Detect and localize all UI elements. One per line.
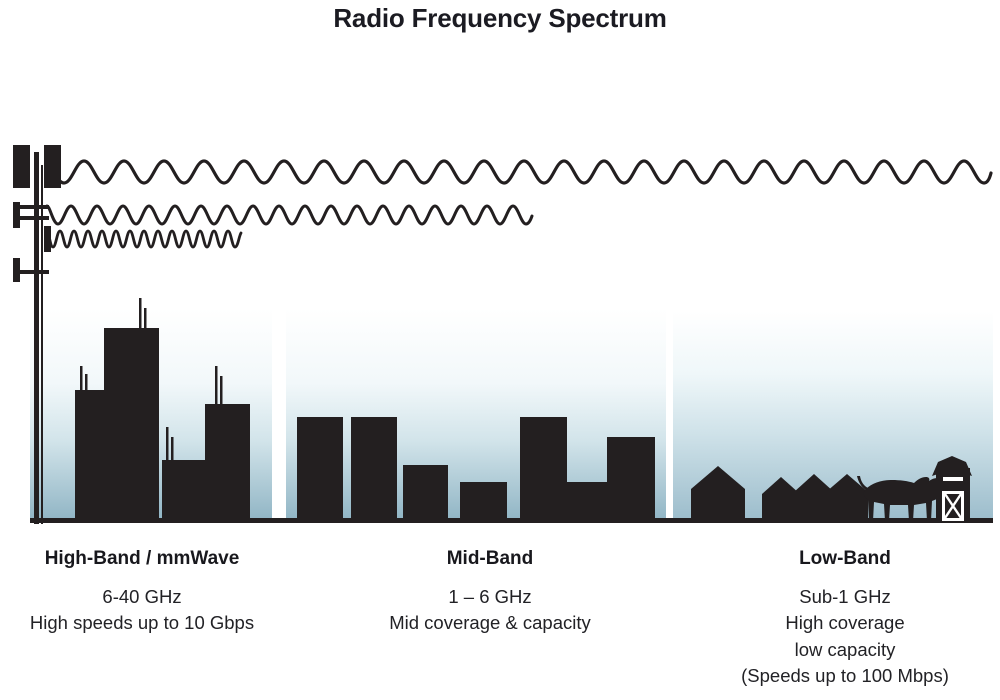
midrise-building bbox=[607, 437, 655, 522]
tower-antenna-panel-mid bbox=[13, 202, 20, 228]
midrise-building bbox=[460, 482, 507, 522]
band-frequency-high: 6-40 GHz bbox=[0, 584, 284, 610]
tower-antenna-panel-low bbox=[13, 258, 20, 282]
tower-antenna-panel-small bbox=[44, 226, 51, 252]
band-speed-low: (Speeds up to 100 Mbps) bbox=[690, 663, 1000, 689]
skyscraper-building bbox=[162, 460, 210, 522]
barn bbox=[932, 456, 972, 522]
skyscraper-spire bbox=[139, 298, 142, 328]
band-speed-high: High speeds up to 10 Gbps bbox=[0, 610, 284, 636]
skyscraper-spire bbox=[171, 437, 174, 460]
skyscraper-spire bbox=[215, 366, 218, 408]
skyscraper-building bbox=[205, 404, 250, 522]
low-band-wave bbox=[47, 161, 991, 183]
band-description-low: Sub-1 GHz High coverage low capacity (Sp… bbox=[690, 584, 1000, 689]
midrise-building bbox=[297, 417, 343, 522]
band-coverage-low: High coverage bbox=[690, 610, 1000, 636]
skyscraper-spire bbox=[166, 427, 169, 460]
midrise-building bbox=[520, 417, 567, 522]
tower-antenna-panel-left bbox=[13, 145, 30, 188]
radio-waves bbox=[47, 161, 991, 247]
midrise-building bbox=[351, 417, 397, 522]
skyscraper-spire bbox=[220, 376, 223, 408]
band-column-low: Low-Band Sub-1 GHz High coverage low cap… bbox=[690, 548, 1000, 689]
band-speed-mid: Mid coverage & capacity bbox=[352, 610, 628, 636]
band-frequency-low: Sub-1 GHz bbox=[690, 584, 1000, 610]
skyscraper-building bbox=[75, 390, 107, 522]
midrise-building bbox=[403, 465, 448, 522]
band-description-high: 6-40 GHz High speeds up to 10 Gbps bbox=[0, 584, 284, 637]
barn-hayloft-window bbox=[943, 477, 963, 481]
skyscraper-spire bbox=[144, 308, 147, 328]
midrise-building bbox=[566, 482, 608, 522]
skyscraper-building bbox=[104, 328, 159, 522]
high-band-wave bbox=[47, 231, 241, 247]
mid-band-wave bbox=[47, 206, 532, 224]
tower-antenna-panel-right bbox=[44, 145, 61, 188]
band-column-mid: Mid-Band 1 – 6 GHz Mid coverage & capaci… bbox=[352, 548, 628, 637]
band-frequency-mid: 1 – 6 GHz bbox=[352, 584, 628, 610]
infographic-root: Radio Frequency Spectrum bbox=[0, 0, 1000, 700]
band-title-low: Low-Band bbox=[690, 548, 1000, 570]
band-title-high: High-Band / mmWave bbox=[0, 548, 284, 570]
band-description-mid: 1 – 6 GHz Mid coverage & capacity bbox=[352, 584, 628, 637]
band-capacity-low: low capacity bbox=[690, 637, 1000, 663]
band-title-mid: Mid-Band bbox=[352, 548, 628, 570]
band-column-high: High-Band / mmWave 6-40 GHz High speeds … bbox=[0, 548, 284, 637]
